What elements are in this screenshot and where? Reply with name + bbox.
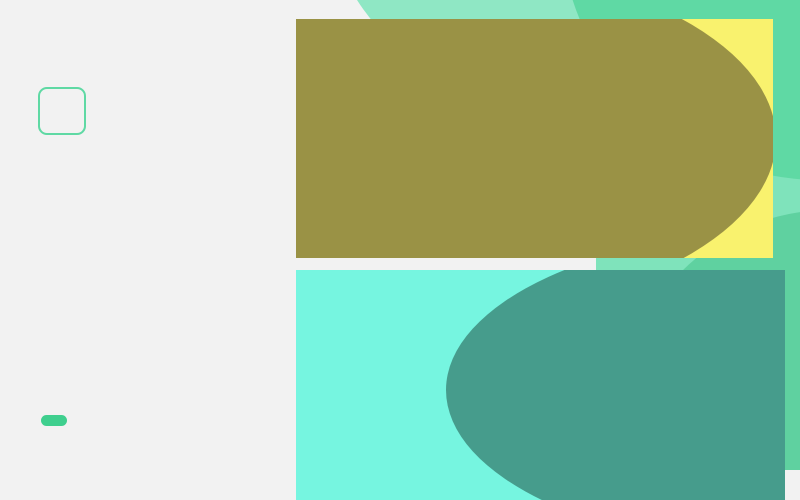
preview-shape-olive [296,19,773,258]
info-column [38,0,288,500]
preview-panel-teal [296,270,785,500]
hexagon-halftone-pattern-yellow [296,19,773,258]
adobe-illustrator-badge-icon [38,87,86,135]
preview-panel-yellow [296,19,773,258]
volume-badge [41,415,67,426]
hexagon-halftone-pattern-teal [296,270,785,500]
poster-canvas [0,0,800,500]
preview-shape-teal [446,270,785,500]
